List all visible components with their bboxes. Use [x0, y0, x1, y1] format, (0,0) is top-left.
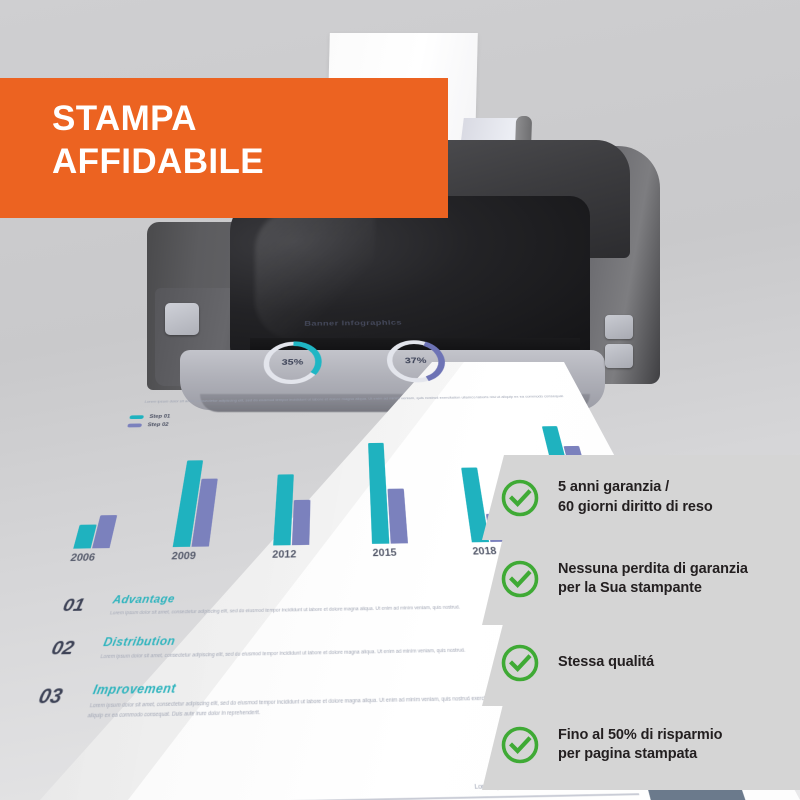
feature-panel-text: 5 anni garanzia / 60 giorni diritto di r… — [558, 478, 713, 517]
feature-panel-text: Nessuna perdita di garanzia per la Sua s… — [558, 560, 748, 599]
headline-text: STAMPA AFFIDABILE — [52, 98, 264, 183]
poster-canvas: Banner Infographics 35% 37% Lorem ipsum … — [0, 0, 800, 800]
feature-panel-text: Stessa qualitá — [558, 653, 654, 672]
check-circle-icon — [500, 559, 540, 599]
feature-panel-4[interactable]: Fino al 50% di risparmio per pagina stam… — [482, 700, 800, 790]
check-circle-icon — [500, 643, 540, 683]
check-circle-icon — [500, 478, 540, 518]
feature-panel-text: Fino al 50% di risparmio per pagina stam… — [558, 726, 722, 765]
check-circle-icon — [500, 725, 540, 765]
feature-panel-1[interactable]: 5 anni garanzia / 60 giorni diritto di r… — [482, 455, 800, 540]
feature-panel-2[interactable]: Nessuna perdita di garanzia per la Sua s… — [482, 533, 800, 625]
feature-panel-3[interactable]: Stessa qualitá — [482, 620, 800, 706]
